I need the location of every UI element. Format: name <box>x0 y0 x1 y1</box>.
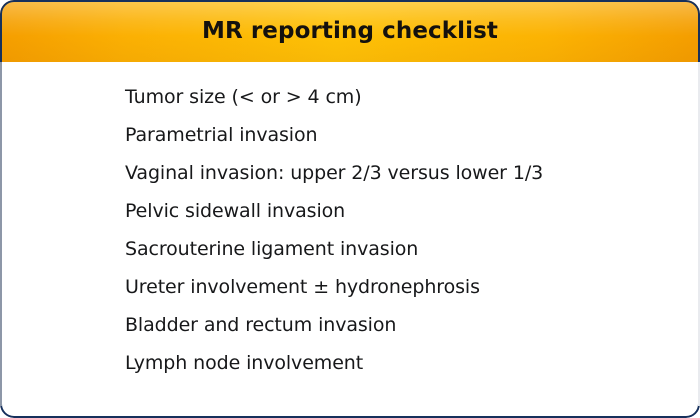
checklist-card: MR reporting checklist Tumor size (< or … <box>0 0 700 418</box>
card-body: Tumor size (< or > 4 cm) Parametrial inv… <box>0 62 700 418</box>
checklist-list: Tumor size (< or > 4 cm) Parametrial inv… <box>125 78 543 382</box>
page-title: MR reporting checklist <box>202 20 498 43</box>
list-item: Pelvic sidewall invasion <box>125 192 543 230</box>
list-item: Parametrial invasion <box>125 116 543 154</box>
list-item: Vaginal invasion: upper 2/3 versus lower… <box>125 154 543 192</box>
list-item: Ureter involvement ± hydronephrosis <box>125 268 543 306</box>
list-item: Tumor size (< or > 4 cm) <box>125 78 543 116</box>
list-item: Bladder and rectum invasion <box>125 306 543 344</box>
card-header: MR reporting checklist <box>0 0 700 62</box>
list-item: Sacrouterine ligament invasion <box>125 230 543 268</box>
list-item: Lymph node involvement <box>125 344 543 382</box>
